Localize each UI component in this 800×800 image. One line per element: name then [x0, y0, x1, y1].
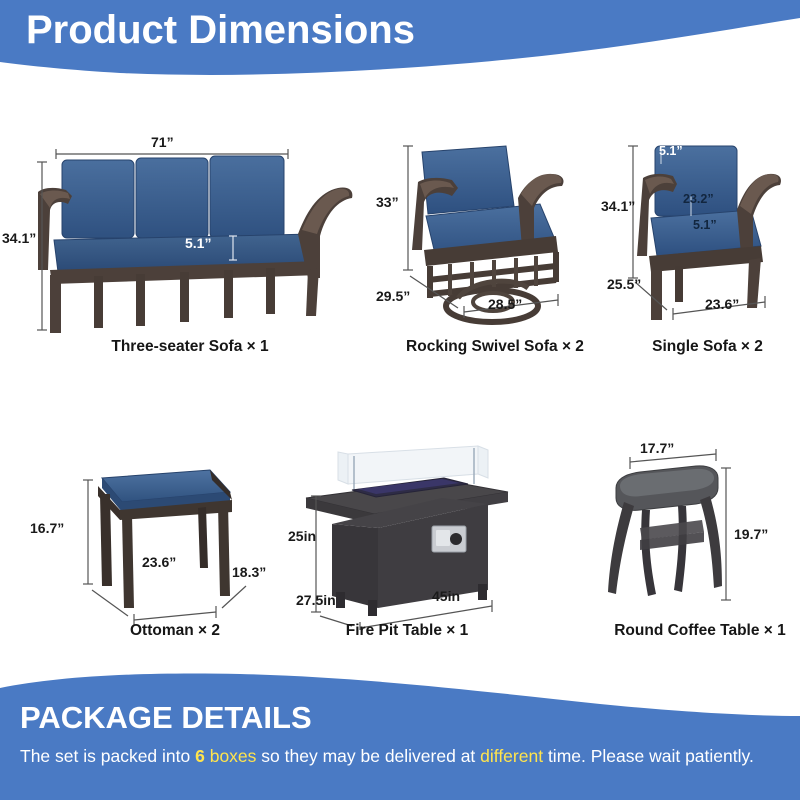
caption-three-seater-sofa: Three-seater Sofa × 1: [20, 338, 360, 356]
dim-fire-pit-table-width: 45in: [432, 588, 460, 604]
dim-ottoman-width: 23.6”: [142, 554, 176, 570]
dim-rocking-swivel-sofa-height: 33”: [376, 194, 399, 210]
rocking-swivel-sofa-illustration: [380, 130, 610, 345]
single-sofa-illustration: [615, 130, 800, 345]
product-round-coffee-table: 17.7” 19.7” Round Coffee Table × 1: [600, 440, 800, 650]
dim-round-coffee-table-width: 17.7”: [640, 440, 674, 456]
page-title: Product Dimensions: [26, 8, 415, 53]
dim-three-seater-sofa-cushion-thickness: 5.1”: [185, 235, 211, 251]
caption-round-coffee-table: Round Coffee Table × 1: [600, 622, 800, 640]
dim-rocking-swivel-sofa-depth: 29.5”: [376, 288, 410, 304]
dim-single-sofa-width: 23.6”: [705, 296, 739, 312]
dim-ottoman-height: 16.7”: [30, 520, 64, 536]
package-text-middle: so they may be delivered at: [256, 746, 480, 766]
product-fire-pit-table: 25in 27.5in 45in Fire Pit Table × 1: [292, 440, 522, 650]
header-banner: Product Dimensions: [0, 0, 800, 95]
product-single-sofa: 5.1” 34.1” 23.2” 5.1” 25.5” 23.6” Single…: [615, 130, 800, 360]
round-coffee-table-illustration: [600, 440, 800, 630]
caption-rocking-swivel-sofa: Rocking Swivel Sofa × 2: [380, 338, 610, 356]
package-text-before: The set is packed into: [20, 746, 195, 766]
dim-fire-pit-table-depth: 27.5in: [296, 592, 336, 608]
dim-three-seater-sofa-width: 71”: [151, 134, 174, 150]
footer-banner: PACKAGE DETAILS The set is packed into 6…: [0, 672, 800, 800]
package-boxes-word: boxes: [210, 746, 257, 766]
footer-wave-shape: [0, 672, 800, 800]
dim-rocking-swivel-sofa-width: 28.5”: [488, 296, 522, 312]
package-boxes-count: 6: [195, 746, 205, 766]
package-details-text: The set is packed into 6 boxes so they m…: [20, 746, 754, 767]
caption-fire-pit-table: Fire Pit Table × 1: [292, 622, 522, 640]
product-rocking-swivel-sofa: 33” 29.5” 28.5” Rocking Swivel Sofa × 2: [380, 130, 610, 360]
dim-single-sofa-depth: 25.5”: [607, 276, 641, 292]
package-text-after: time. Please wait patiently.: [543, 746, 754, 766]
footer-title: PACKAGE DETAILS: [20, 700, 312, 736]
product-ottoman: 16.7” 23.6” 18.3” Ottoman × 2: [40, 450, 310, 650]
dim-single-sofa-back-cushion-thickness: 5.1”: [659, 144, 683, 158]
product-dimensions-infographic: Product Dimensions: [0, 0, 800, 800]
product-three-seater-sofa: 71” 34.1” 5.1” Three-seater Sofa × 1: [20, 130, 360, 360]
dim-round-coffee-table-height: 19.7”: [734, 526, 768, 542]
dim-fire-pit-table-height: 25in: [288, 528, 316, 544]
caption-single-sofa: Single Sofa × 2: [615, 338, 800, 356]
dim-single-sofa-seat-width: 23.2”: [683, 192, 714, 206]
ottoman-illustration: [40, 450, 310, 625]
caption-ottoman: Ottoman × 2: [40, 622, 310, 640]
package-different-word: different: [480, 746, 543, 766]
dim-single-sofa-seat-cushion-thickness: 5.1”: [693, 218, 717, 232]
dim-single-sofa-height: 34.1”: [601, 198, 635, 214]
dim-three-seater-sofa-height: 34.1”: [2, 230, 36, 246]
dim-ottoman-depth: 18.3”: [232, 564, 266, 580]
